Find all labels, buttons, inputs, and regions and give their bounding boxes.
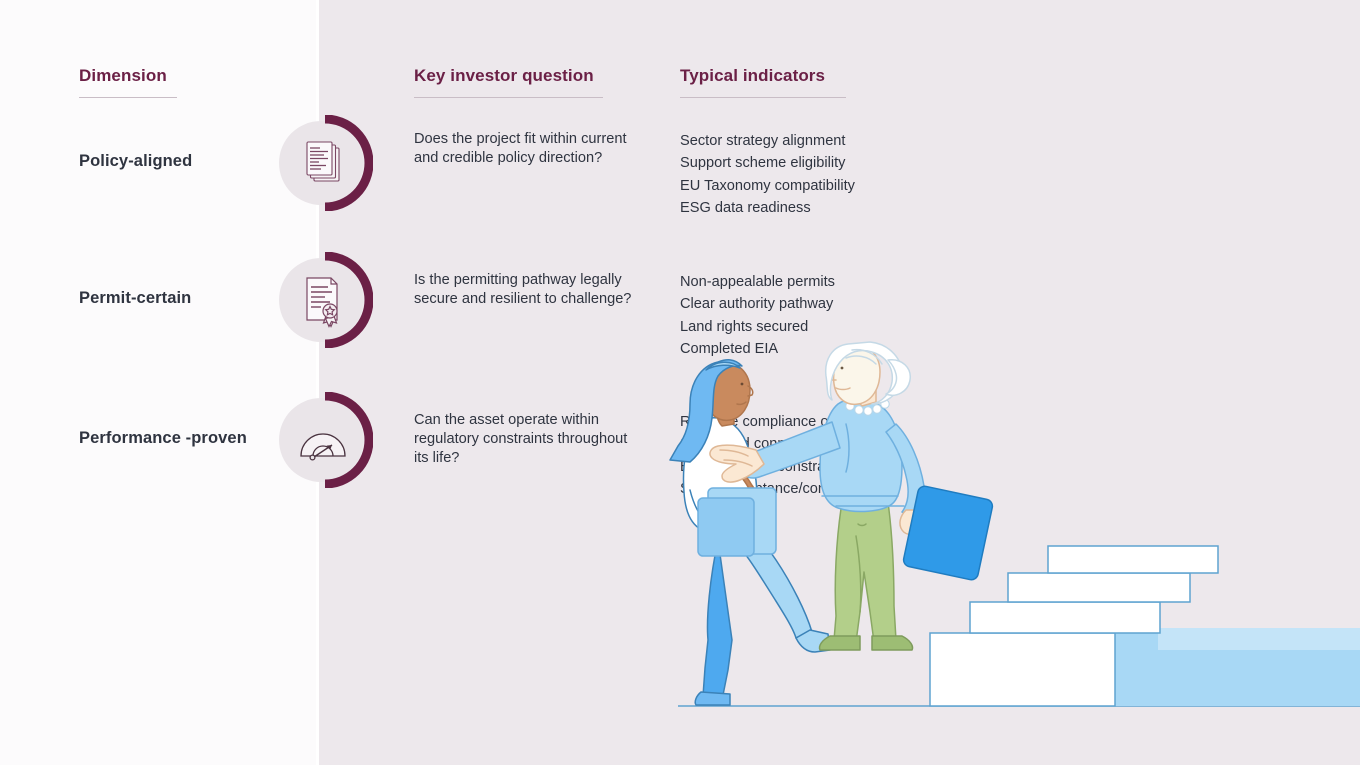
stair-platform-blue-top xyxy=(1158,628,1360,650)
question-text-performance-proven: Can the asset operate within regulatory … xyxy=(414,411,644,469)
shoe-left xyxy=(819,636,860,650)
question-text-policy-aligned: Does the project fit within current and … xyxy=(414,130,644,168)
column-header-key-investor-question: Key investor question xyxy=(414,66,594,86)
list-item: Clear authority pathway xyxy=(680,293,980,315)
question-text-permit-certain: Is the permitting pathway legally secure… xyxy=(414,271,644,309)
dimension-label-performance-proven: Performance -proven xyxy=(79,429,247,448)
left-panel-background xyxy=(0,0,316,765)
column-header-dimension: Dimension xyxy=(79,66,167,86)
medallion-performance-proven xyxy=(277,392,373,488)
shoe-right xyxy=(872,636,913,650)
certificate-seal-icon xyxy=(277,252,373,348)
column-rule-indicators xyxy=(680,97,846,98)
illustration-svg xyxy=(660,340,1360,765)
column-rule-question xyxy=(414,97,603,98)
column-header-typical-indicators: Typical indicators xyxy=(680,66,825,86)
folder-dark-blue xyxy=(902,485,993,581)
documents-stack-icon xyxy=(277,115,373,211)
dimension-label-policy-aligned: Policy-aligned xyxy=(79,152,192,171)
column-rule-dimension xyxy=(79,97,177,98)
list-item: EU Taxonomy compatibility xyxy=(680,175,980,197)
dimension-label-permit-certain: Permit-certain xyxy=(79,289,191,308)
gauge-meter-icon xyxy=(277,392,373,488)
list-item: Non-appealable permits xyxy=(680,271,980,293)
list-item: Support scheme eligibility xyxy=(680,152,980,174)
list-item: Sector strategy alignment xyxy=(680,130,980,152)
trousers-green xyxy=(834,502,896,642)
indicator-list-policy-aligned: Sector strategy alignment Support scheme… xyxy=(680,130,980,220)
medallion-policy-aligned xyxy=(277,115,373,211)
medallion-permit-certain xyxy=(277,252,373,348)
figure-climbing-woman xyxy=(670,360,830,705)
slide-canvas: Dimension Key investor question Typical … xyxy=(0,0,1360,765)
list-item: Land rights secured xyxy=(680,316,980,338)
list-item: ESG data readiness xyxy=(680,197,980,219)
sweater-blue xyxy=(820,399,902,511)
two-women-climbing-stairs-illustration xyxy=(660,340,1360,765)
